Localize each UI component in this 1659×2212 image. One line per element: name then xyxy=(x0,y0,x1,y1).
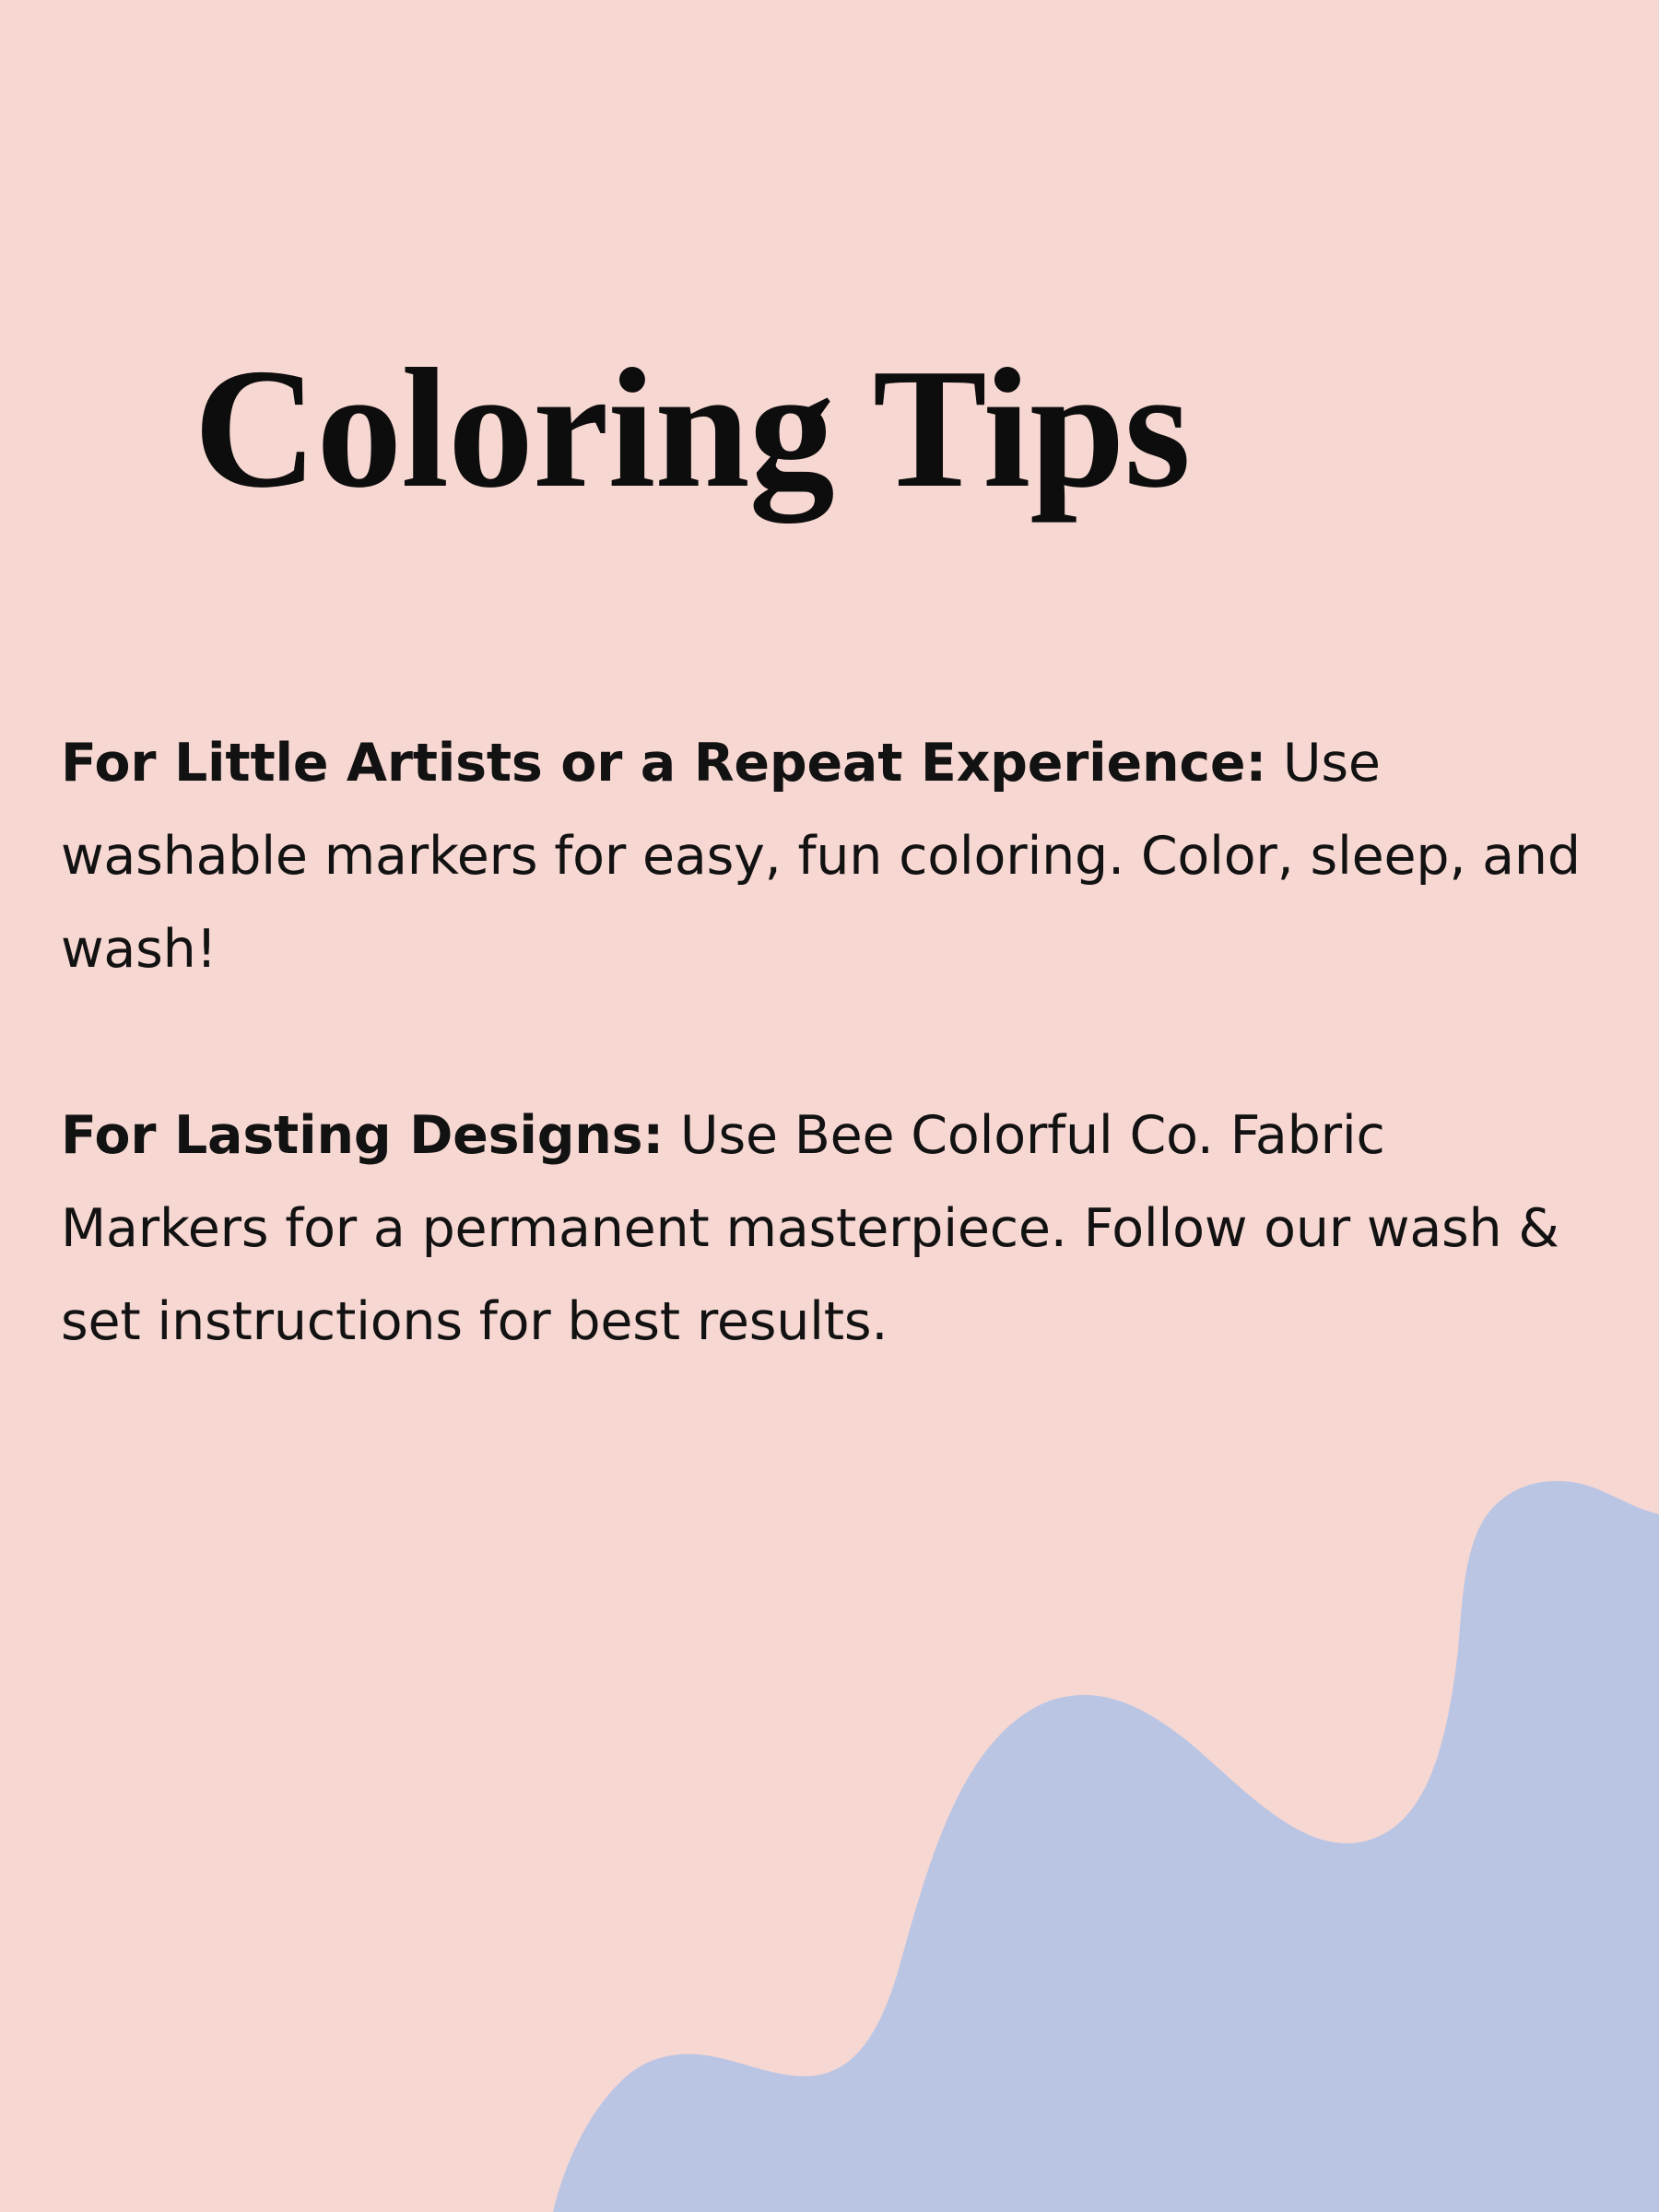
tip-1-lead-label: For Little Artists or a Repeat Experienc… xyxy=(61,733,1266,794)
tip-paragraph-1: For Little Artists or a Repeat Experienc… xyxy=(61,717,1591,996)
wavy-blob-shape xyxy=(553,1481,1659,2212)
tip-2-lead-label: For Lasting Designs: xyxy=(61,1105,664,1166)
poster-canvas: Coloring Tips For Little Artists or a Re… xyxy=(0,0,1659,2212)
body-copy-block: For Little Artists or a Repeat Experienc… xyxy=(61,717,1591,1369)
page-title: Coloring Tips xyxy=(194,343,1190,514)
tip-paragraph-2: For Lasting Designs: Use Bee Colorful Co… xyxy=(61,1089,1591,1369)
